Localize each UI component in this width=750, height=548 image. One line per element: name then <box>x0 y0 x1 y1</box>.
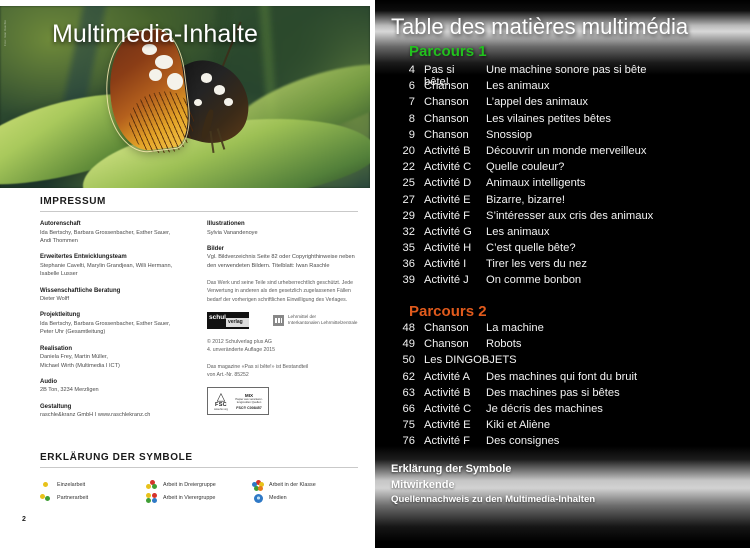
impressum-block-line: Peter Uhr (Gesamtleitung) <box>40 328 191 337</box>
impressum-block-heading: Illustrationen <box>207 221 358 227</box>
toc-entry-title: Des machines pas si bêtes <box>480 387 620 399</box>
toc-kind: Activité B <box>415 387 480 399</box>
toc-entry-title: L’appel des animaux <box>480 96 588 108</box>
toc-row[interactable]: 76Activité FDes consignes <box>391 435 739 451</box>
toc-list-parcours-1: 4Pas si bête!Une machine sonore pas si b… <box>391 64 739 291</box>
toc-kind: Activité E <box>415 194 480 206</box>
class-group-icon <box>252 480 264 490</box>
impressum-block-heading: Gestaltung <box>40 404 191 410</box>
symbol-dot <box>152 493 157 498</box>
fsc-url: www.fsc.org <box>210 408 232 411</box>
photo-credit: Foto: Iwan Raschle <box>4 20 7 46</box>
legal-line: Das Werk und seine Teile sind urheberrec… <box>207 279 358 287</box>
ilz-line-2: Interkantonalen Lehrmittelzentrale <box>288 320 357 325</box>
impressum-block-line: Sylvia Vanandenoye <box>207 229 358 238</box>
toc-title: Table des matières multimédia <box>391 14 688 40</box>
symbols-legend-grid: EinzelarbeitPartnerarbeitArbeit in Dreie… <box>40 478 358 504</box>
toc-kind: Activité B <box>415 145 480 157</box>
impressum-block-line: Ida Bertschy, Barbara Grossenbacher, Est… <box>40 320 191 329</box>
toc-entry-title: Tirer les vers du nez <box>480 258 587 270</box>
impressum-block-heading: Realisation <box>40 346 191 352</box>
toc-page-number: 8 <box>391 113 415 125</box>
toc-entry-title: S’intéresser aux cris des animaux <box>480 210 653 222</box>
wing-spot <box>149 69 162 81</box>
symbols-legend-section: ERKLÄRUNG DER SYMBOLE EinzelarbeitPartne… <box>40 452 358 504</box>
magazine-line: von Art.-Nr. 85252 <box>207 371 358 379</box>
fsc-code: FSC® C008457 <box>232 406 266 410</box>
wing-spot <box>201 73 212 83</box>
impressum-right-column: IllustrationenSylvia VanandenoyeBilderVg… <box>207 221 358 428</box>
toc-entry-title: Découvrir un monde merveilleux <box>480 145 646 157</box>
impressum-block: RealisationDaniela Frey, Martin Müller,M… <box>40 346 191 371</box>
copyright-line: 4. unveränderte Auflage 2015 <box>207 346 358 354</box>
legal-line: bedarf der vorherigen schriftlichen Einw… <box>207 296 358 304</box>
impressum-block: Erweitertes EntwicklungsteamStephanie Ca… <box>40 254 191 279</box>
toc-entry-title: Bizarre, bizarre! <box>480 194 565 206</box>
schulverlag-logo-word-b: verlag <box>228 319 243 325</box>
toc-entry-title: Je décris des machines <box>480 403 603 415</box>
toc-page-number: 20 <box>391 145 415 157</box>
page-title: Multimedia-Inhalte <box>52 20 258 49</box>
toc-kind: Activité C <box>415 403 480 415</box>
toc-entry-title: On comme bonbon <box>480 274 581 286</box>
toc-page-number: 75 <box>391 419 415 431</box>
impressum-block-heading: Erweitertes Entwicklungsteam <box>40 254 191 260</box>
fsc-desc-2: tungsvollen Quellen <box>232 401 266 404</box>
impressum-block: Gestaltungraschle&kranz GmbH I www.rasch… <box>40 404 191 420</box>
impressum-block-line: Dieter Wolff <box>40 295 191 304</box>
toc-kind: Activité D <box>415 177 480 189</box>
ilz-line-1: Lehrmittel der <box>288 314 316 319</box>
toc-entry-title: Des machines qui font du bruit <box>480 371 637 383</box>
impressum-block: ProjektleitungIda Bertschy, Barbara Gros… <box>40 312 191 337</box>
toc-page-number: 7 <box>391 96 415 108</box>
divider <box>40 211 358 212</box>
toc-entry-title: Les vilaines petites bêtes <box>480 113 611 125</box>
butterfly-icon <box>100 31 263 169</box>
toc-entry-title: Des consignes <box>480 435 559 447</box>
symbols-legend-column: Arbeit in DreiergruppeArbeit in Vierergr… <box>146 478 252 504</box>
toc-row[interactable]: 62Activité ADes machines qui font du bru… <box>391 371 739 387</box>
bottom-link[interactable]: Erklärung der Symbole <box>391 462 595 478</box>
toc-page-number: 76 <box>391 435 415 447</box>
impressum-block-line: raschle&kranz GmbH I www.raschlekranz.ch <box>40 411 191 420</box>
impressum-block-heading: Autorenschaft <box>40 221 191 227</box>
toc-row[interactable]: 63Activité BDes machines pas si bêtes <box>391 387 739 403</box>
wing-spot <box>155 55 173 69</box>
toc-page-number: 27 <box>391 194 415 206</box>
impressum-heading: IMPRESSUM <box>40 196 358 207</box>
impressum-block-line: Michael Wirth (Multimedia I ICT) <box>40 362 191 371</box>
toc-row[interactable]: 35Activité HC’est quelle bête? <box>391 242 739 258</box>
magazine-line: Das magazine «Pas si bête!» ist Bestandt… <box>207 363 358 371</box>
one-person-icon <box>40 480 52 490</box>
toc-row[interactable]: 49ChansonRobots <box>391 338 739 354</box>
impressum-block: AutorenschaftIda Bertschy, Barbara Gross… <box>40 221 191 246</box>
toc-entry-title: Une machine sonore pas si bête <box>480 64 646 76</box>
impressum-block: IllustrationenSylvia Vanandenoye <box>207 221 358 237</box>
toc-kind: Chanson <box>415 338 480 350</box>
symbol-dot <box>146 498 151 503</box>
toc-page-number: 22 <box>391 161 415 173</box>
symbol-dot <box>254 494 263 503</box>
media-icon <box>252 493 264 503</box>
fsc-mark: △ FSC www.fsc.org <box>210 392 232 411</box>
book-spread: Foto: Iwan Raschle Multimedia-Inhalte IM… <box>0 0 750 548</box>
symbols-legend-heading: ERKLÄRUNG DER SYMBOLE <box>40 452 358 463</box>
toc-row[interactable]: 32Activité GLes animaux <box>391 226 739 242</box>
toc-entry-title: Quelle couleur? <box>480 161 564 173</box>
toc-kind: Activité E <box>415 419 480 431</box>
toc-kind: Chanson <box>415 80 480 92</box>
symbol-legend-label: Arbeit in Dreiergruppe <box>163 482 216 488</box>
toc-page-number: 62 <box>391 371 415 383</box>
impressum-block: BilderVgl. Bildverzeichnis Seite 82 oder… <box>207 246 358 271</box>
magazine-note: Das magazine «Pas si bête!» ist Bestandt… <box>207 363 358 380</box>
schulverlag-logo-word-a: schul <box>209 314 226 321</box>
toc-row[interactable]: 29Activité FS’intéresser aux cris des an… <box>391 210 739 226</box>
toc-page-number: 63 <box>391 387 415 399</box>
toc-row[interactable]: 7ChansonL’appel des animaux <box>391 96 739 112</box>
impressum-block-line: den verwendeten Bildern. Titelblatt: Iwa… <box>207 262 358 271</box>
toc-page-number: 66 <box>391 403 415 415</box>
toc-entry-title: Snossiop <box>480 129 532 141</box>
toc-kind: Les DINGOBJETS <box>415 354 517 366</box>
toc-row[interactable]: 25Activité DAnimaux intelligents <box>391 177 739 193</box>
impressum-block-heading: Audio <box>40 379 191 385</box>
toc-page-number: 6 <box>391 80 415 92</box>
impressum-block-line: Ida Bertschy, Barbara Grossenbacher, Est… <box>40 229 191 238</box>
toc-page-number: 50 <box>391 354 415 366</box>
symbols-legend-column: Arbeit in der KlasseMedien <box>252 478 358 504</box>
symbol-legend-row: Partnerarbeit <box>40 491 146 504</box>
symbol-dot <box>152 498 157 503</box>
toc-kind: Activité I <box>415 258 480 270</box>
symbol-dot <box>43 482 48 487</box>
impressum-block-line: Vgl. Bildverzeichnis Seite 82 oder Copyr… <box>207 253 358 262</box>
toc-entry-title: Les animaux <box>480 226 549 238</box>
toc-entry-title: Les animaux <box>480 80 549 92</box>
page-number-left: 2 <box>22 516 26 523</box>
toc-row[interactable]: 4Pas si bête!Une machine sonore pas si b… <box>391 64 739 80</box>
divider <box>40 467 358 468</box>
toc-row[interactable]: 50Les DINGOBJETS <box>391 354 739 370</box>
impressum-block-line: Isabelle Lusser <box>40 270 191 279</box>
four-person-icon <box>146 493 158 503</box>
symbol-dot <box>146 484 151 489</box>
impressum-block-line: Daniela Frey, Martin Müller, <box>40 353 191 362</box>
symbol-legend-row: Arbeit in der Klasse <box>252 478 358 491</box>
toc-row[interactable]: 6ChansonLes animaux <box>391 80 739 96</box>
toc-kind: Chanson <box>415 322 480 334</box>
toc-page-number: 29 <box>391 210 415 222</box>
bottom-link[interactable]: Mitwirkende <box>391 478 595 494</box>
symbol-legend-row: Arbeit in Dreiergruppe <box>146 478 252 491</box>
impressum-block-heading: Projektleitung <box>40 312 191 318</box>
symbol-legend-row: Medien <box>252 491 358 504</box>
toc-page-number: 25 <box>391 177 415 189</box>
ilz-logo-text: Lehrmittel der Interkantonalen Lehrmitte… <box>288 314 357 328</box>
toc-page-number: 49 <box>391 338 415 350</box>
symbol-legend-label: Arbeit in Vierergruppe <box>163 495 215 501</box>
toc-kind: Activité A <box>415 371 480 383</box>
impressum-block-line: 2B Ton, 3234 Merzligen <box>40 386 191 395</box>
toc-row[interactable]: 39Activité JOn comme bonbon <box>391 274 739 290</box>
symbol-legend-label: Medien <box>269 495 287 501</box>
ilz-logo: Lehrmittel der Interkantonalen Lehrmitte… <box>273 314 357 328</box>
toc-page-number: 4 <box>391 64 415 76</box>
toc-kind: Activité J <box>415 274 480 286</box>
toc-kind: Activité F <box>415 210 480 222</box>
toc-row[interactable]: 75Activité EKiki et Aliène <box>391 419 739 435</box>
fsc-logo: △ FSC www.fsc.org MIX Papier aus verantw… <box>207 387 269 415</box>
symbols-legend-column: EinzelarbeitPartnerarbeit <box>40 478 146 504</box>
copyright-line: © 2012 Schulverlag plus AG <box>207 338 358 346</box>
copyright-lines: © 2012 Schulverlag plus AG4. unverändert… <box>207 338 358 355</box>
toc-kind: Activité F <box>415 435 480 447</box>
toc-kind: Activité H <box>415 242 480 254</box>
symbol-legend-label: Partnerarbeit <box>57 495 88 501</box>
symbol-legend-row: Einzelarbeit <box>40 478 146 491</box>
right-page: Table des matières multimédia Parcours 1… <box>375 0 750 548</box>
symbol-legend-label: Einzelarbeit <box>57 482 85 488</box>
left-page: Foto: Iwan Raschle Multimedia-Inhalte IM… <box>0 0 375 548</box>
impressum-section: IMPRESSUM AutorenschaftIda Bertschy, Bar… <box>40 196 358 428</box>
toc-kind: Chanson <box>415 113 480 125</box>
toc-kind: Activité G <box>415 226 480 238</box>
fsc-text: MIX Papier aus verantwor- tungsvollen Qu… <box>232 393 266 410</box>
symbol-dot <box>258 486 263 491</box>
toc-row[interactable]: 20Activité BDécouvrir un monde merveille… <box>391 145 739 161</box>
ilz-mark-icon <box>273 315 284 326</box>
toc-kind: Chanson <box>415 96 480 108</box>
toc-entry-title: La machine <box>480 322 544 334</box>
three-person-icon <box>146 480 158 490</box>
publisher-logos: schul verlag Lehrmittel der Interkantona… <box>207 312 358 329</box>
toc-row[interactable]: 48ChansonLa machine <box>391 322 739 338</box>
legal-notice: Das Werk und seine Teile sind urheberrec… <box>207 279 358 304</box>
symbol-legend-label: Arbeit in der Klasse <box>269 482 316 488</box>
parcours-2-heading: Parcours 2 <box>409 303 487 320</box>
bottom-links: Erklärung der SymboleMitwirkendeQuellenn… <box>391 462 595 507</box>
toc-page-number: 39 <box>391 274 415 286</box>
schulverlag-logo: schul verlag <box>207 312 249 329</box>
toc-entry-title: Animaux intelligents <box>480 177 586 189</box>
toc-list-parcours-2: 48ChansonLa machine49ChansonRobots50Les … <box>391 322 739 452</box>
impressum-block-heading: Bilder <box>207 246 358 252</box>
butterfly-hero-image: Foto: Iwan Raschle Multimedia-Inhalte <box>0 6 370 188</box>
fsc-tree-icon: △ <box>210 392 232 402</box>
toc-page-number: 48 <box>391 322 415 334</box>
toc-entry-title: Robots <box>480 338 521 350</box>
impressum-left-column: AutorenschaftIda Bertschy, Barbara Gross… <box>40 221 191 428</box>
toc-row[interactable]: 9ChansonSnossiop <box>391 129 739 145</box>
toc-kind: Chanson <box>415 129 480 141</box>
symbol-dot <box>45 496 50 501</box>
impressum-block: Wissenschaftliche BeratungDieter Wolff <box>40 288 191 304</box>
toc-page-number: 35 <box>391 242 415 254</box>
impressum-block: Audio2B Ton, 3234 Merzligen <box>40 379 191 395</box>
toc-row[interactable]: 66Activité CJe décris des machines <box>391 403 739 419</box>
impressum-block-line: Andi Thommen <box>40 237 191 246</box>
toc-page-number: 32 <box>391 226 415 238</box>
impressum-block-heading: Wissenschaftliche Beratung <box>40 288 191 294</box>
toc-row[interactable]: 8ChansonLes vilaines petites bêtes <box>391 113 739 129</box>
parcours-1-heading: Parcours 1 <box>409 43 487 60</box>
symbol-dot <box>146 493 151 498</box>
toc-entry-title: Kiki et Aliène <box>480 419 550 431</box>
toc-row[interactable]: 27Activité EBizarre, bizarre! <box>391 194 739 210</box>
toc-row[interactable]: 22Activité CQuelle couleur? <box>391 161 739 177</box>
legal-line: Verwertung in anderen als den gesetzlich… <box>207 287 358 295</box>
toc-page-number: 9 <box>391 129 415 141</box>
two-person-icon <box>40 493 52 503</box>
symbol-dot <box>152 484 157 489</box>
toc-page-number: 36 <box>391 258 415 270</box>
bottom-link[interactable]: Quellennachweis zu den Multimedia-Inhalt… <box>391 493 595 507</box>
toc-kind: Activité C <box>415 161 480 173</box>
toc-row[interactable]: 36Activité ITirer les vers du nez <box>391 258 739 274</box>
symbol-legend-row: Arbeit in Vierergruppe <box>146 491 252 504</box>
impressum-block-line: Stephanie Cavelti, Marylin Grandjean, Wi… <box>40 262 191 271</box>
toc-entry-title: C’est quelle bête? <box>480 242 576 254</box>
wing-spot <box>167 73 183 90</box>
